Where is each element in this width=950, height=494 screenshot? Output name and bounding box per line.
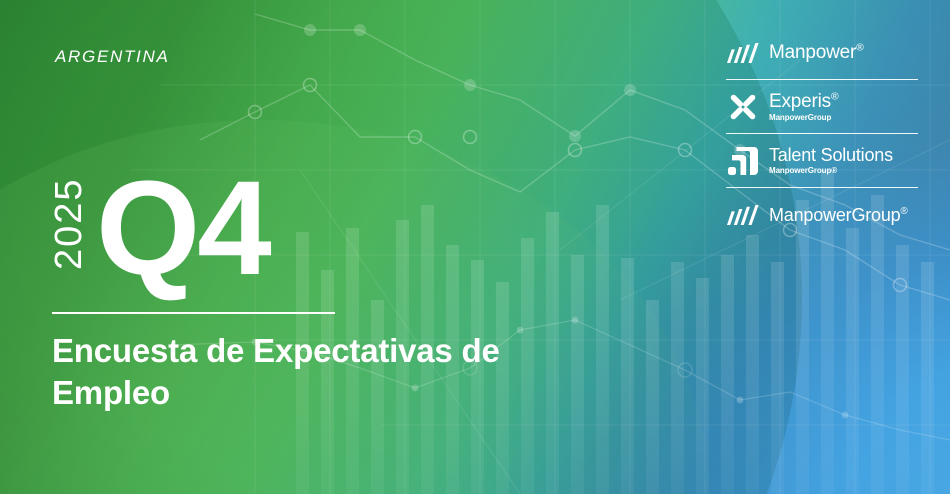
experis-x-icon: [726, 92, 760, 122]
brand-row-talent-solutions: Talent Solutions ManpowerGroup®: [726, 140, 918, 182]
manpowergroup-bars-icon: [726, 205, 760, 225]
year-label: 2025: [50, 168, 88, 280]
poster-canvas: ARGENTINA 2025 Q4 Encuesta de Expectativ…: [0, 0, 950, 494]
brand-text-talent-solutions: Talent Solutions ManpowerGroup®: [769, 146, 893, 175]
brand-name-manpowergroup: ManpowerGroup®: [769, 206, 908, 225]
brand-divider-2: [726, 133, 918, 134]
talent-solutions-arrow-icon: [726, 147, 760, 175]
brand-row-experis: Experis® ManpowerGroup: [726, 86, 918, 128]
brand-name-experis: Experis®: [769, 92, 838, 112]
hero-block: 2025 Q4: [50, 168, 269, 284]
brand-name-talent-solutions: Talent Solutions: [769, 146, 893, 165]
brand-divider-1: [726, 79, 918, 80]
brand-sub-experis: ManpowerGroup: [769, 113, 838, 123]
page-title: Encuesta de Expectativas de Empleo: [52, 330, 572, 414]
brand-name-manpower: Manpower®: [769, 43, 864, 63]
brand-text-experis: Experis® ManpowerGroup: [769, 92, 838, 123]
brand-divider-3: [726, 187, 918, 188]
brand-lockup-stack: Manpower® Experis® ManpowerGroup: [726, 32, 918, 236]
manpower-bars-icon: [726, 43, 760, 63]
brand-row-manpowergroup: ManpowerGroup®: [726, 194, 918, 236]
brand-sub-talent-solutions: ManpowerGroup®: [769, 166, 893, 176]
brand-text-manpowergroup: ManpowerGroup®: [769, 206, 908, 225]
brand-text-manpower: Manpower®: [769, 43, 864, 63]
country-label: ARGENTINA: [55, 47, 169, 67]
quarter-label: Q4: [96, 174, 269, 284]
title-divider: [52, 312, 335, 314]
brand-row-manpower: Manpower®: [726, 32, 918, 74]
